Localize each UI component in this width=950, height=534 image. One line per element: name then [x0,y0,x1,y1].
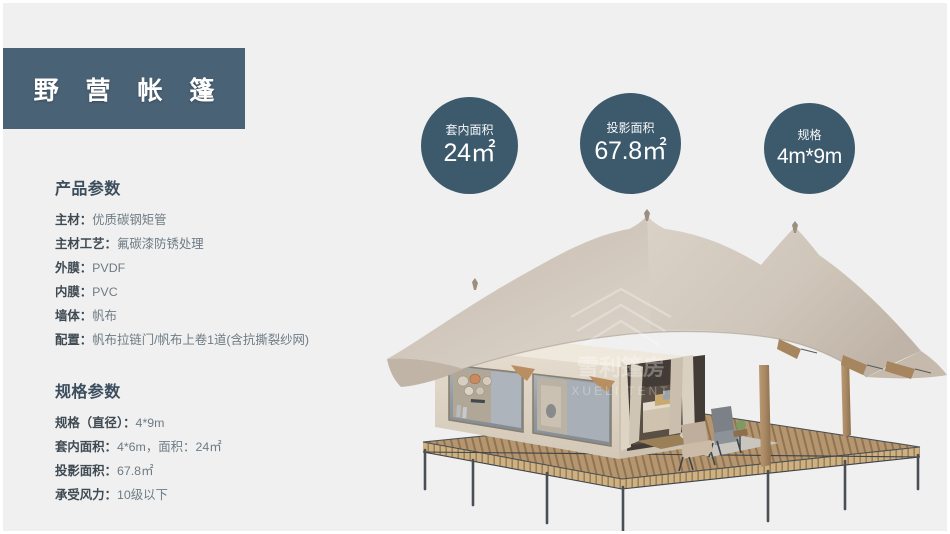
spec-row: 配置：帆布拉链门/帆布上卷1道(含抗撕裂纱网) [55,328,405,352]
page-title-bar: 野 营 帐 篷 [3,48,245,129]
spec-value: 67.8㎡ [117,464,154,478]
spec-value: PVDF [92,261,125,275]
stat-badge-label: 投影面积 [606,122,654,135]
spec-row: 主材工艺：氟碳漆防锈处理 [55,232,405,256]
spec-label: 内膜： [55,285,92,299]
stat-badge-value: 24㎡ [444,140,496,166]
spec-value: 4*6m，面积：24㎡ [117,440,222,454]
spec-label: 主材工艺： [55,237,117,251]
tent-window-left [449,365,523,432]
page-title: 野 营 帐 篷 [24,71,225,107]
spec-group-product: 产品参数 主材：优质碳钢矩管 主材工艺：氟碳漆防锈处理 外膜：PVDF 内膜：P… [55,175,405,352]
spec-value: 氟碳漆防锈处理 [117,237,204,251]
stat-badge-projected-area: 投影面积 67.8㎡ [580,93,681,194]
spec-row: 主材：优质碳钢矩管 [55,208,405,232]
spec-row: 承受风力：10级以下 [55,483,405,507]
stat-badge-label: 套内面积 [445,124,493,137]
stat-badge-dimensions: 规格 4m*9m [764,103,855,194]
stat-badge-interior-area: 套内面积 24㎡ [421,97,518,194]
spec-group-specification: 规格参数 规格（直径）：4*9m 套内面积：4*6m，面积：24㎡ 投影面积：6… [55,378,405,507]
spec-row: 投影面积：67.8㎡ [55,459,405,483]
spec-panel: 产品参数 主材：优质碳钢矩管 主材工艺：氟碳漆防锈处理 外膜：PVDF 内膜：P… [55,175,405,523]
spec-row: 内膜：PVC [55,280,405,304]
spec-value: 帆布拉链门/帆布上卷1道(含抗撕裂纱网) [92,333,309,347]
spec-value: 帆布 [92,309,117,323]
spec-value: 4*9m [136,416,165,430]
spec-value: PVC [92,285,117,299]
spec-label: 配置： [55,333,92,347]
spec-label: 主材： [55,213,92,227]
spec-label: 外膜： [55,261,92,275]
spec-label: 承受风力： [55,488,117,502]
spec-row: 外膜：PVDF [55,256,405,280]
spec-row: 墙体：帆布 [55,304,405,328]
stat-badge-value: 4m*9m [777,146,842,168]
spec-group-heading: 产品参数 [55,175,405,199]
spec-value: 优质碳钢矩管 [92,213,166,227]
tent-render-image: 雪利篷房 XUELI TENT [375,189,950,534]
spec-row: 套内面积：4*6m，面积：24㎡ [55,435,405,459]
spec-label: 投影面积： [55,464,117,478]
spec-value: 10级以下 [117,488,168,502]
watermark-en-text: XUELI TENT [571,384,670,398]
page-root: 野 营 帐 篷 产品参数 主材：优质碳钢矩管 主材工艺：氟碳漆防锈处理 外膜：P… [0,0,950,534]
spec-label: 套内面积： [55,440,117,454]
spec-label: 墙体： [55,309,92,323]
spec-label: 规格（直径）： [55,416,136,430]
stat-badge-value: 67.8㎡ [594,138,666,164]
watermark-cn-text: 雪利篷房 [577,355,665,380]
stat-badge-label: 规格 [797,129,821,142]
spec-row: 规格（直径）：4*9m [55,411,405,435]
spec-group-heading: 规格参数 [55,378,405,402]
